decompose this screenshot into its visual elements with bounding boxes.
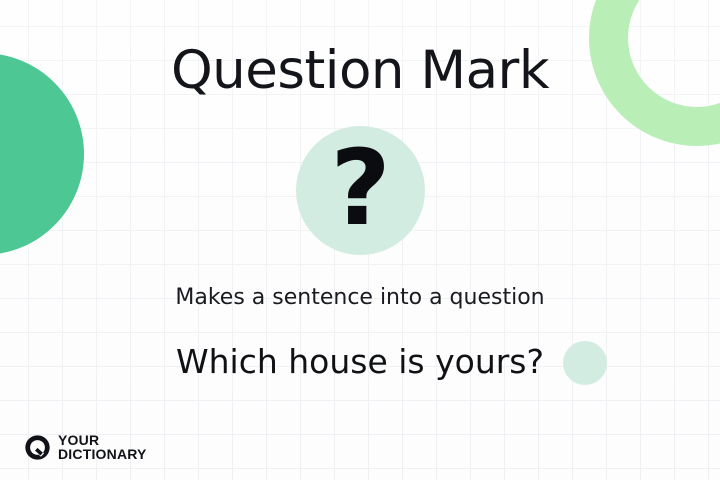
content-layer: Question Mark ? Makes a sentence into a … <box>0 0 720 480</box>
question-mark-symbol: ? <box>296 126 425 255</box>
page-title: Question Mark <box>0 44 720 97</box>
brand-logo-text: YOUR DICTIONARY <box>58 434 147 461</box>
definition-text: Makes a sentence into a question <box>0 285 720 311</box>
brand-logo-line-2: DICTIONARY <box>58 448 147 461</box>
example-sentence: Which house is yours? <box>0 341 720 382</box>
yourdictionary-q-mark-icon <box>24 434 51 461</box>
brand-logo: YOUR DICTIONARY <box>24 434 147 461</box>
infographic-canvas: Question Mark ? Makes a sentence into a … <box>0 0 720 480</box>
